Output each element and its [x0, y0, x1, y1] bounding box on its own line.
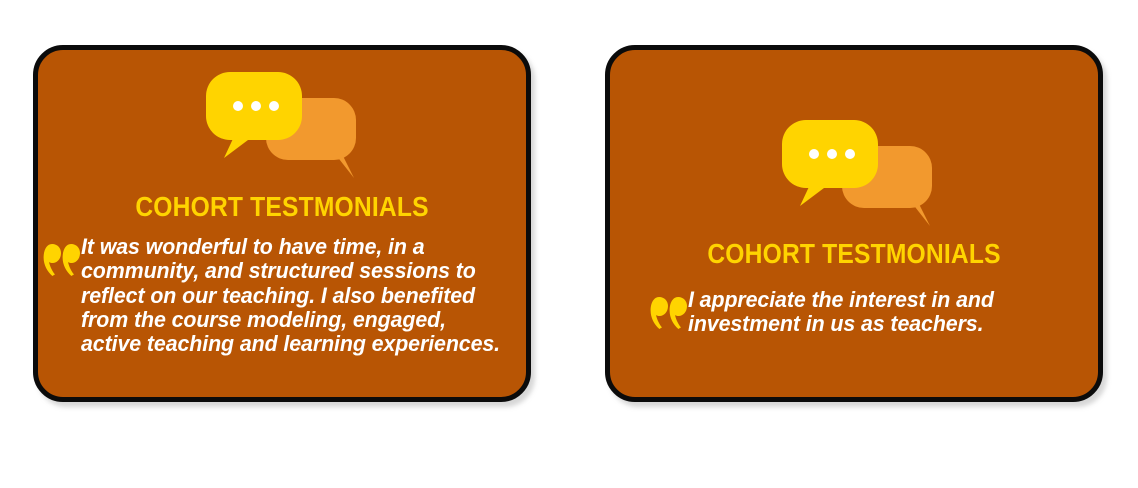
testimonial-cards-canvas: COHORT TESTMONIALS It was wonderful to h… [0, 0, 1138, 488]
quote-text: I appreciate the interest in and investm… [688, 288, 1079, 337]
bubble-dot-3 [269, 101, 279, 111]
quote-text: It was wonderful to have time, in a comm… [81, 235, 509, 356]
card-content-left: COHORT TESTMONIALS It was wonderful to h… [38, 50, 526, 397]
bubble-dot-2 [827, 149, 837, 159]
bubble-dot-2 [251, 101, 261, 111]
quote-block: It was wonderful to have time, in a comm… [43, 235, 531, 356]
speech-bubbles-icon [204, 70, 356, 182]
quote-mark-icon [43, 243, 81, 277]
speech-bubbles-icon [780, 118, 932, 230]
card-content-right: COHORT TESTMONIALS I appreciate the inte… [610, 50, 1098, 397]
bubble-dot-1 [809, 149, 819, 159]
quote-block: I appreciate the interest in and investm… [650, 288, 1100, 337]
card-heading: COHORT TESTMONIALS [639, 240, 1068, 268]
bubble-dot-3 [845, 149, 855, 159]
card-heading: COHORT TESTMONIALS [67, 193, 496, 221]
quote-mark-icon [650, 296, 688, 330]
testimonial-card-left[interactable]: COHORT TESTMONIALS It was wonderful to h… [33, 45, 531, 402]
bubble-dot-1 [233, 101, 243, 111]
testimonial-card-right[interactable]: COHORT TESTMONIALS I appreciate the inte… [605, 45, 1103, 402]
